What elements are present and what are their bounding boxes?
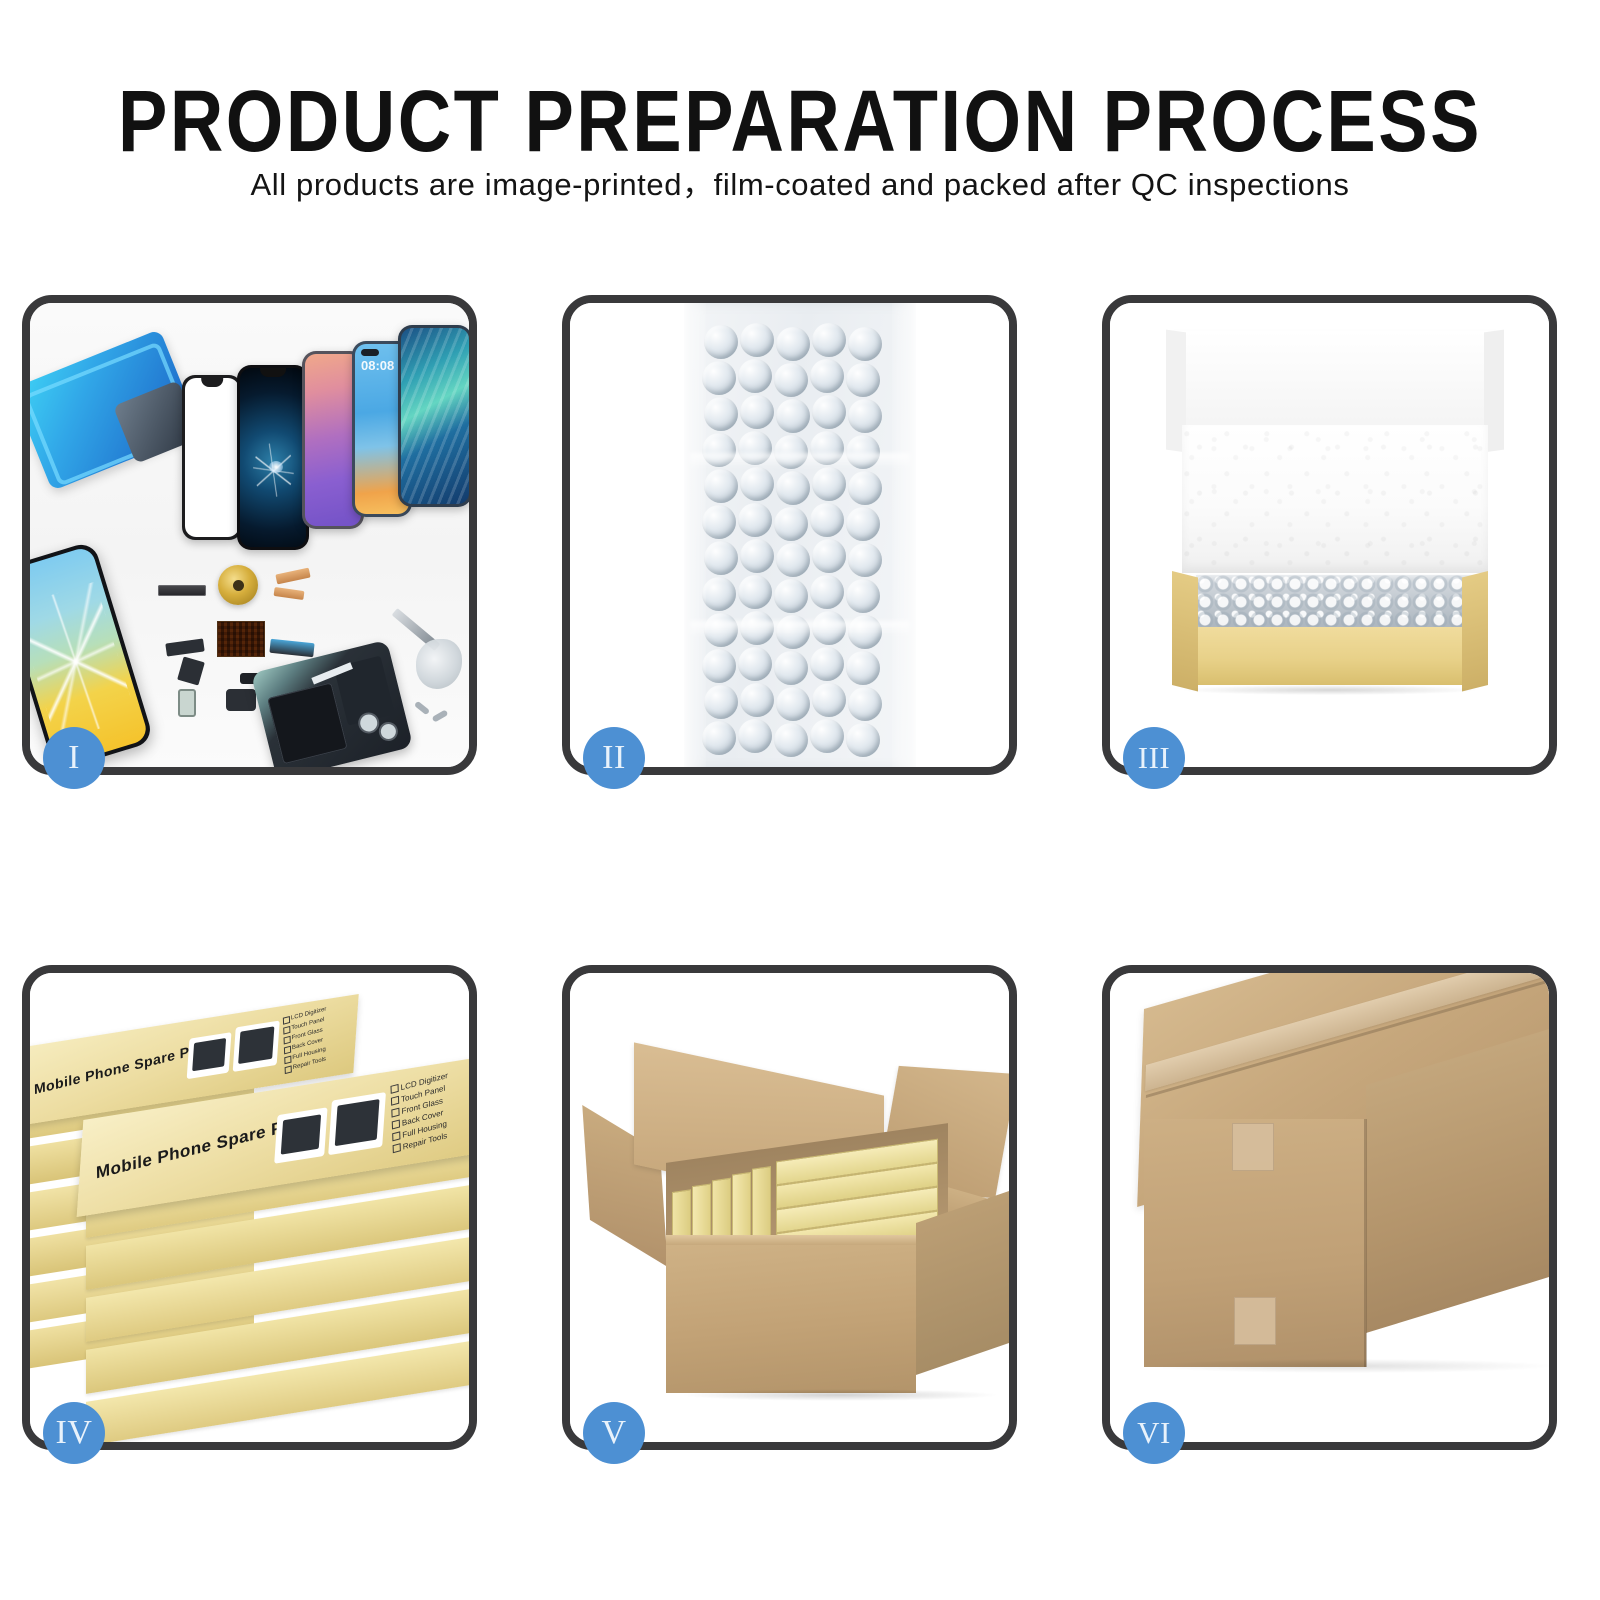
retail-box-checklist-front: LCD Digitizer Touch Panel Front Glass Ba…	[388, 1061, 469, 1165]
step-2-image	[570, 303, 1009, 767]
step-panel-6: VI	[1102, 965, 1557, 1450]
box-body-shadow	[1184, 685, 1476, 695]
step-5-image	[570, 973, 1009, 1442]
step-badge-4: IV	[43, 1402, 105, 1464]
step-panel-5: V	[562, 965, 1017, 1450]
step-3-image	[1110, 303, 1549, 767]
bubble-product-bubbles	[1196, 575, 1474, 629]
clock-text: 08:08	[361, 358, 394, 373]
bag-sheen-upper	[690, 453, 910, 469]
checkbox	[392, 1119, 400, 1129]
checkbox	[283, 1026, 290, 1035]
step-6-image	[1110, 973, 1549, 1442]
box-body-right-side	[1462, 571, 1488, 691]
sim-tray-part	[178, 689, 196, 717]
step-panel-1: 08:08	[22, 295, 477, 775]
retail-box-checklist-back: LCD Digitizer Touch Panel Front Glass Ba…	[281, 997, 357, 1082]
front-glass-panel	[182, 375, 242, 540]
chip-array-part	[217, 621, 265, 657]
coil-center	[233, 580, 244, 591]
bubble-grid	[702, 321, 898, 761]
teal-phone-screen	[401, 328, 469, 504]
step-panel-4: Mobile Phone Spare Parts LCD Digitizer T…	[22, 965, 477, 1450]
page-title: PRODUCT PREPARATION PROCESS	[0, 78, 1600, 165]
bag-sheen-lower	[690, 621, 910, 637]
carton-front-face	[666, 1241, 916, 1393]
lid-phone-image-d	[328, 1092, 386, 1155]
tape-tab-upper	[1232, 1123, 1274, 1171]
checkbox	[390, 1084, 398, 1094]
checkbox	[285, 1065, 292, 1074]
step-1-image: 08:08	[30, 303, 469, 767]
checkbox	[393, 1143, 401, 1153]
box-body-left-side	[1172, 571, 1198, 691]
step-panel-3: III	[1102, 295, 1557, 775]
carton-corner-edge	[1364, 1119, 1367, 1367]
step-4-image: Mobile Phone Spare Parts LCD Digitizer T…	[30, 973, 469, 1442]
checkbox	[391, 1108, 399, 1118]
checkbox	[392, 1131, 400, 1141]
battery-cell	[267, 682, 347, 764]
carton-shadow	[1150, 1359, 1549, 1373]
taptic-engine-part	[226, 689, 256, 711]
camera-ring-b	[377, 720, 400, 743]
step-badge-5: V	[583, 1402, 645, 1464]
page-subtitle: All products are image-printed，film-coat…	[0, 168, 1600, 202]
step-panel-2: II	[562, 295, 1017, 775]
lid-phone-image-c	[274, 1107, 327, 1163]
glass-notch	[201, 378, 223, 387]
cracked-display-screen	[240, 368, 306, 547]
camera-cutout	[361, 349, 379, 356]
teal-phone	[398, 325, 469, 507]
step-badge-3: III	[1123, 727, 1185, 789]
header: PRODUCT PREPARATION PROCESS All products…	[0, 0, 1600, 250]
step-badge-1: I	[43, 727, 105, 789]
lid-phone-image-a	[187, 1032, 232, 1079]
checkbox	[284, 1046, 291, 1055]
step-badge-2: II	[583, 727, 645, 789]
speaker-mesh-part	[158, 585, 206, 596]
bag-edge-left	[684, 303, 706, 767]
crack-center	[269, 461, 283, 473]
checkbox	[284, 1056, 291, 1065]
tape-tab-lower	[1234, 1297, 1276, 1345]
checkbox	[391, 1096, 399, 1106]
box-lid-open	[1170, 331, 1500, 431]
display-notch	[260, 368, 286, 377]
carton-shadow	[680, 1389, 1000, 1401]
bag-edge-right	[892, 303, 916, 767]
checkbox	[283, 1016, 290, 1025]
front-glass-surface	[185, 378, 239, 537]
foam-texture	[1182, 425, 1488, 573]
lid-phone-image-b	[233, 1020, 280, 1071]
cracked-display-phone	[237, 365, 309, 550]
box-body-front	[1172, 627, 1488, 685]
checkbox	[284, 1036, 291, 1045]
carton-top-edge	[666, 1235, 916, 1245]
step-badge-6: VI	[1123, 1402, 1185, 1464]
